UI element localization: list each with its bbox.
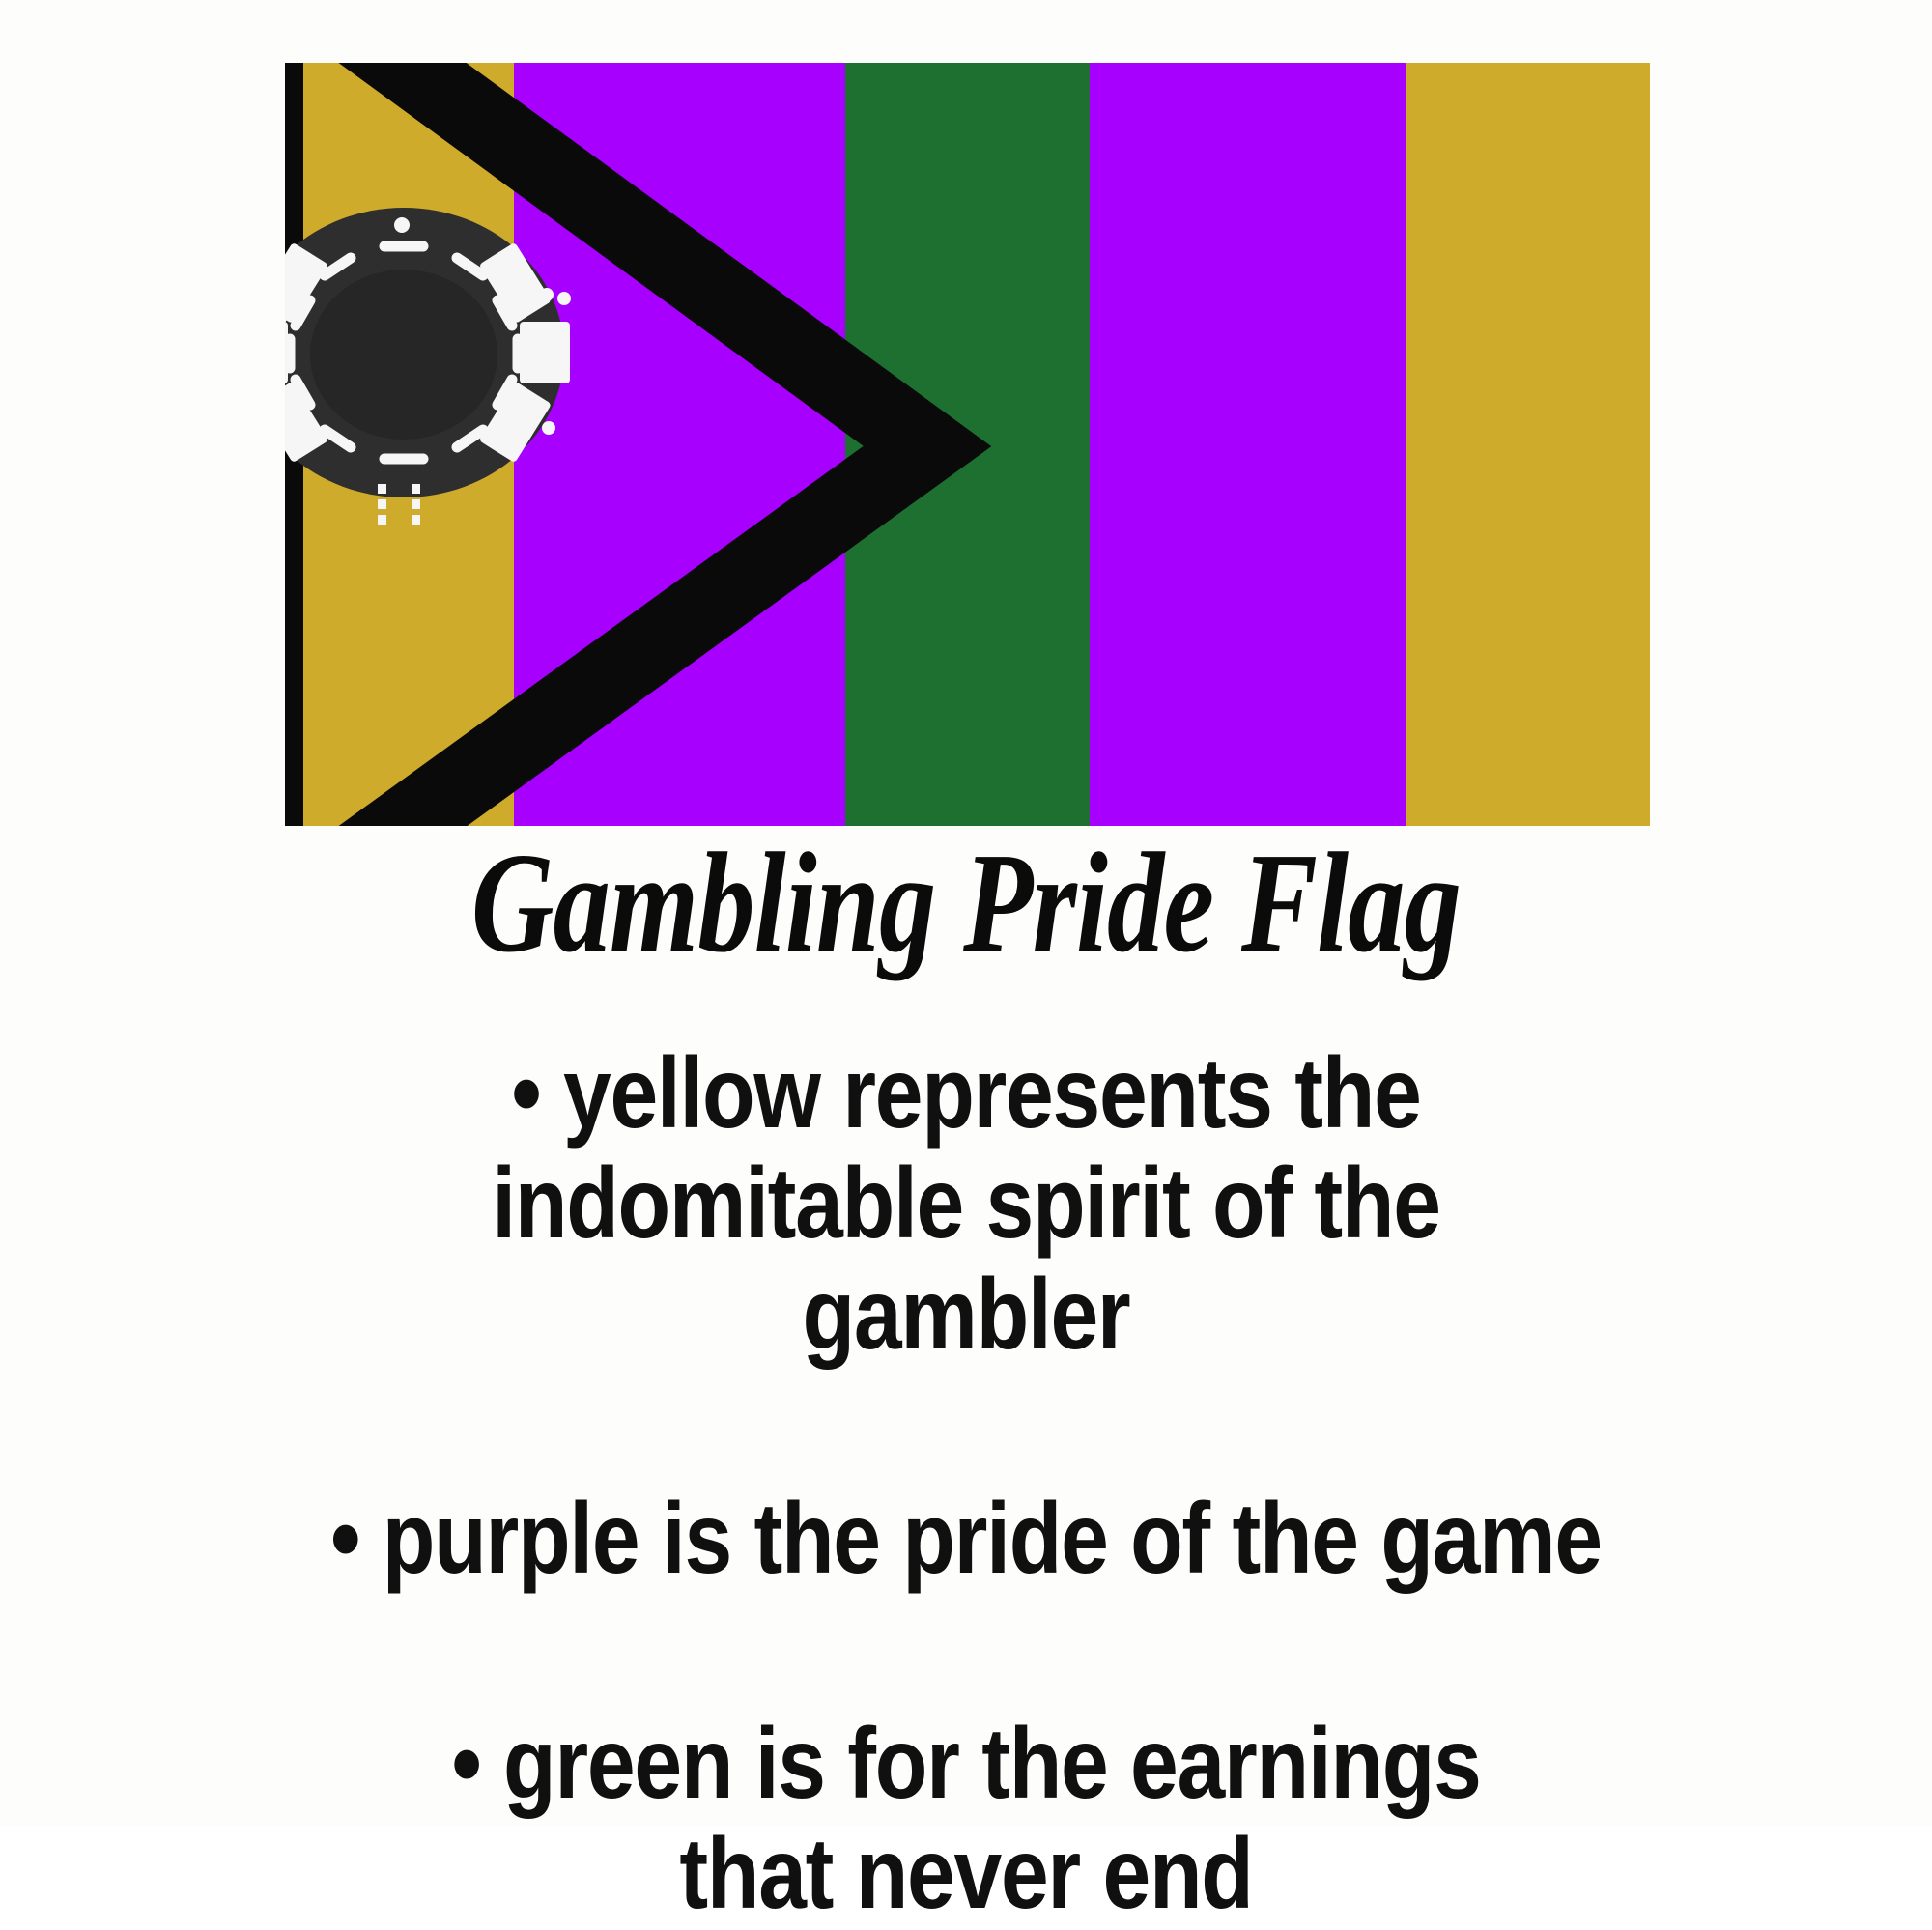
chip-dot (412, 499, 420, 509)
list-item: • yellow represents the indomitable spir… (135, 1038, 1797, 1370)
flag-body (238, 19, 1650, 869)
chip-dot (378, 484, 386, 494)
chip-dot (262, 421, 275, 435)
chip-dot (517, 413, 530, 427)
chip-dot (285, 276, 298, 290)
chip-dot (266, 292, 279, 305)
chip-dot (293, 296, 306, 309)
yellow-stripe-right (1406, 63, 1650, 826)
chip-dot (540, 288, 554, 301)
chip-edge-spot (238, 322, 288, 383)
chip-dot (557, 292, 571, 305)
chip-dot (378, 515, 386, 525)
chip-dot (289, 427, 302, 440)
chip-dot (273, 311, 287, 325)
chip-dot (519, 284, 532, 298)
bullet-text: • yellow represents the indomitable spir… (318, 1038, 1614, 1370)
list-item: • purple is the pride of the game (135, 1484, 1797, 1594)
meme-canvas: Gambling Pride Flag • yellow represents … (0, 0, 1932, 1827)
chip-dot (412, 484, 420, 494)
list-item: • green is for the earnings that never e… (135, 1709, 1797, 1930)
chip-dot (279, 406, 293, 419)
gambling-pride-flag-svg (0, 0, 1932, 869)
bullet-text: • green is for the earnings that never e… (372, 1709, 1560, 1930)
chip-dot (542, 421, 555, 435)
chip-dot (394, 217, 410, 233)
chip-dot (269, 440, 282, 454)
purple-stripe-right (1090, 63, 1406, 826)
chip-dot (378, 499, 386, 509)
bullet-text: • purple is the pride of the game (330, 1484, 1602, 1594)
chip-inner-face (310, 270, 497, 440)
chip-edge-spot (520, 322, 570, 383)
flag-title: Gambling Pride Flag (193, 831, 1739, 977)
flag-meaning-list: • yellow represents the indomitable spir… (0, 1038, 1932, 1929)
flag-image (0, 0, 1932, 869)
chip-dot (412, 515, 420, 525)
